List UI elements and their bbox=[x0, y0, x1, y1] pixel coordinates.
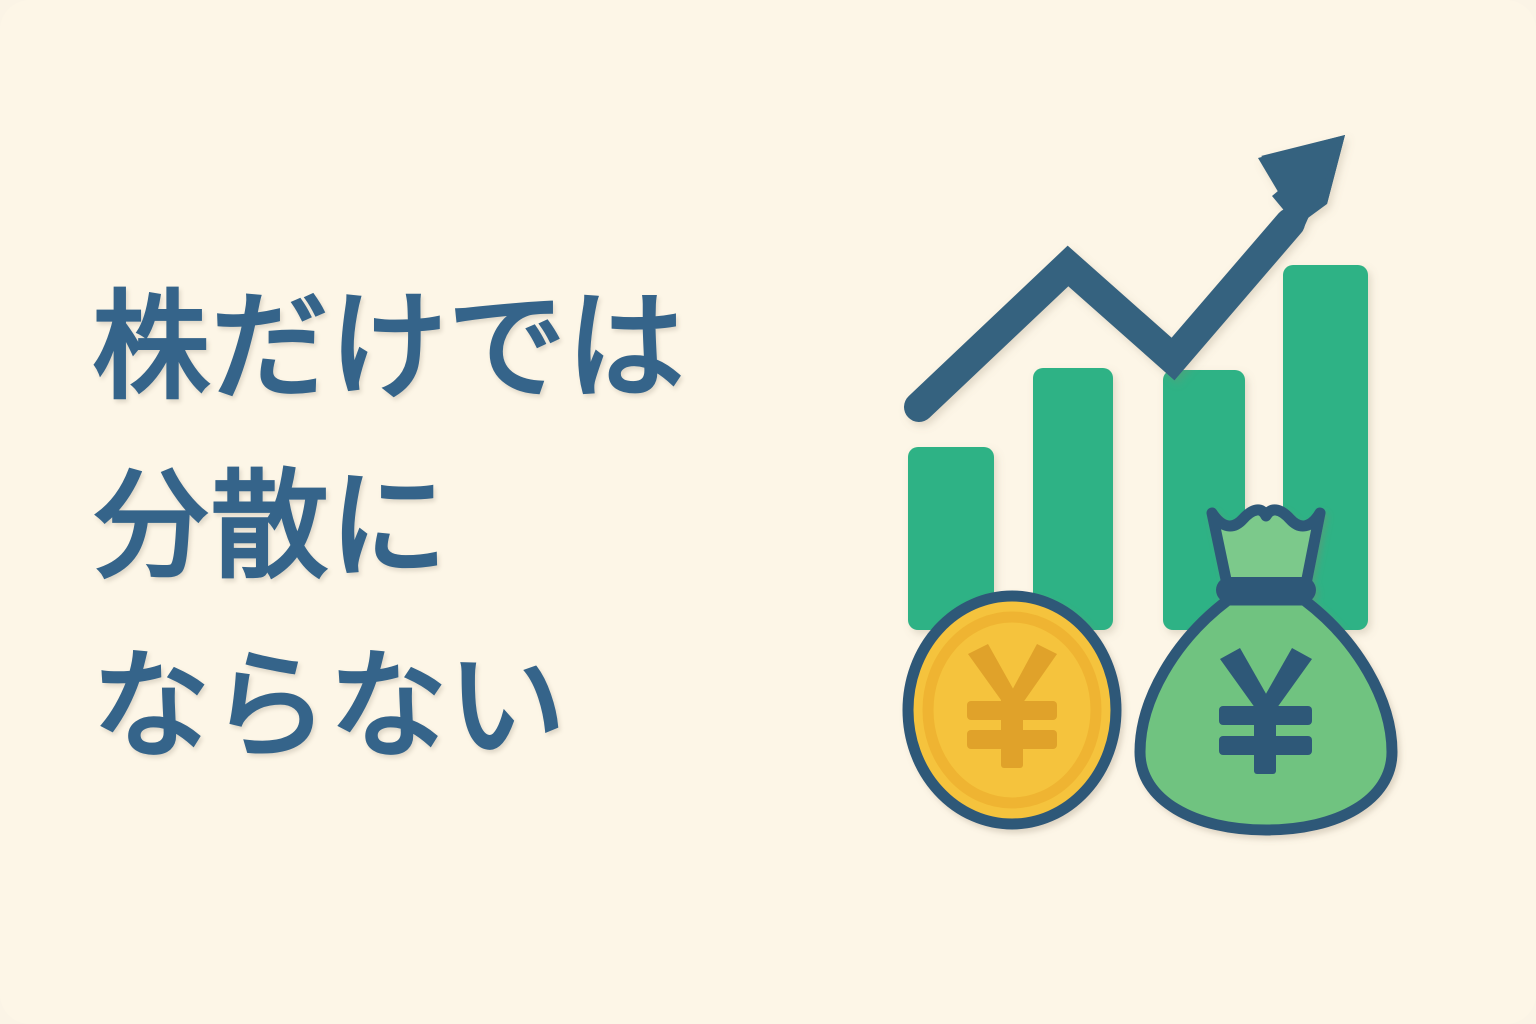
upward-trend-arrow bbox=[919, 135, 1345, 407]
headline-line-1: 株だけでは bbox=[92, 258, 892, 437]
headline-line-3: ならない bbox=[92, 617, 892, 796]
headline-line-2: 分散に bbox=[92, 437, 892, 616]
bar-2 bbox=[1033, 368, 1113, 630]
bag-tie-band bbox=[1216, 577, 1316, 603]
poster-card: 株だけでは 分散に ならない bbox=[0, 0, 1536, 1024]
page-title: 株だけでは 分散に ならない bbox=[92, 258, 892, 796]
growth-chart-illustration bbox=[880, 100, 1440, 860]
yen-coin bbox=[908, 596, 1116, 824]
